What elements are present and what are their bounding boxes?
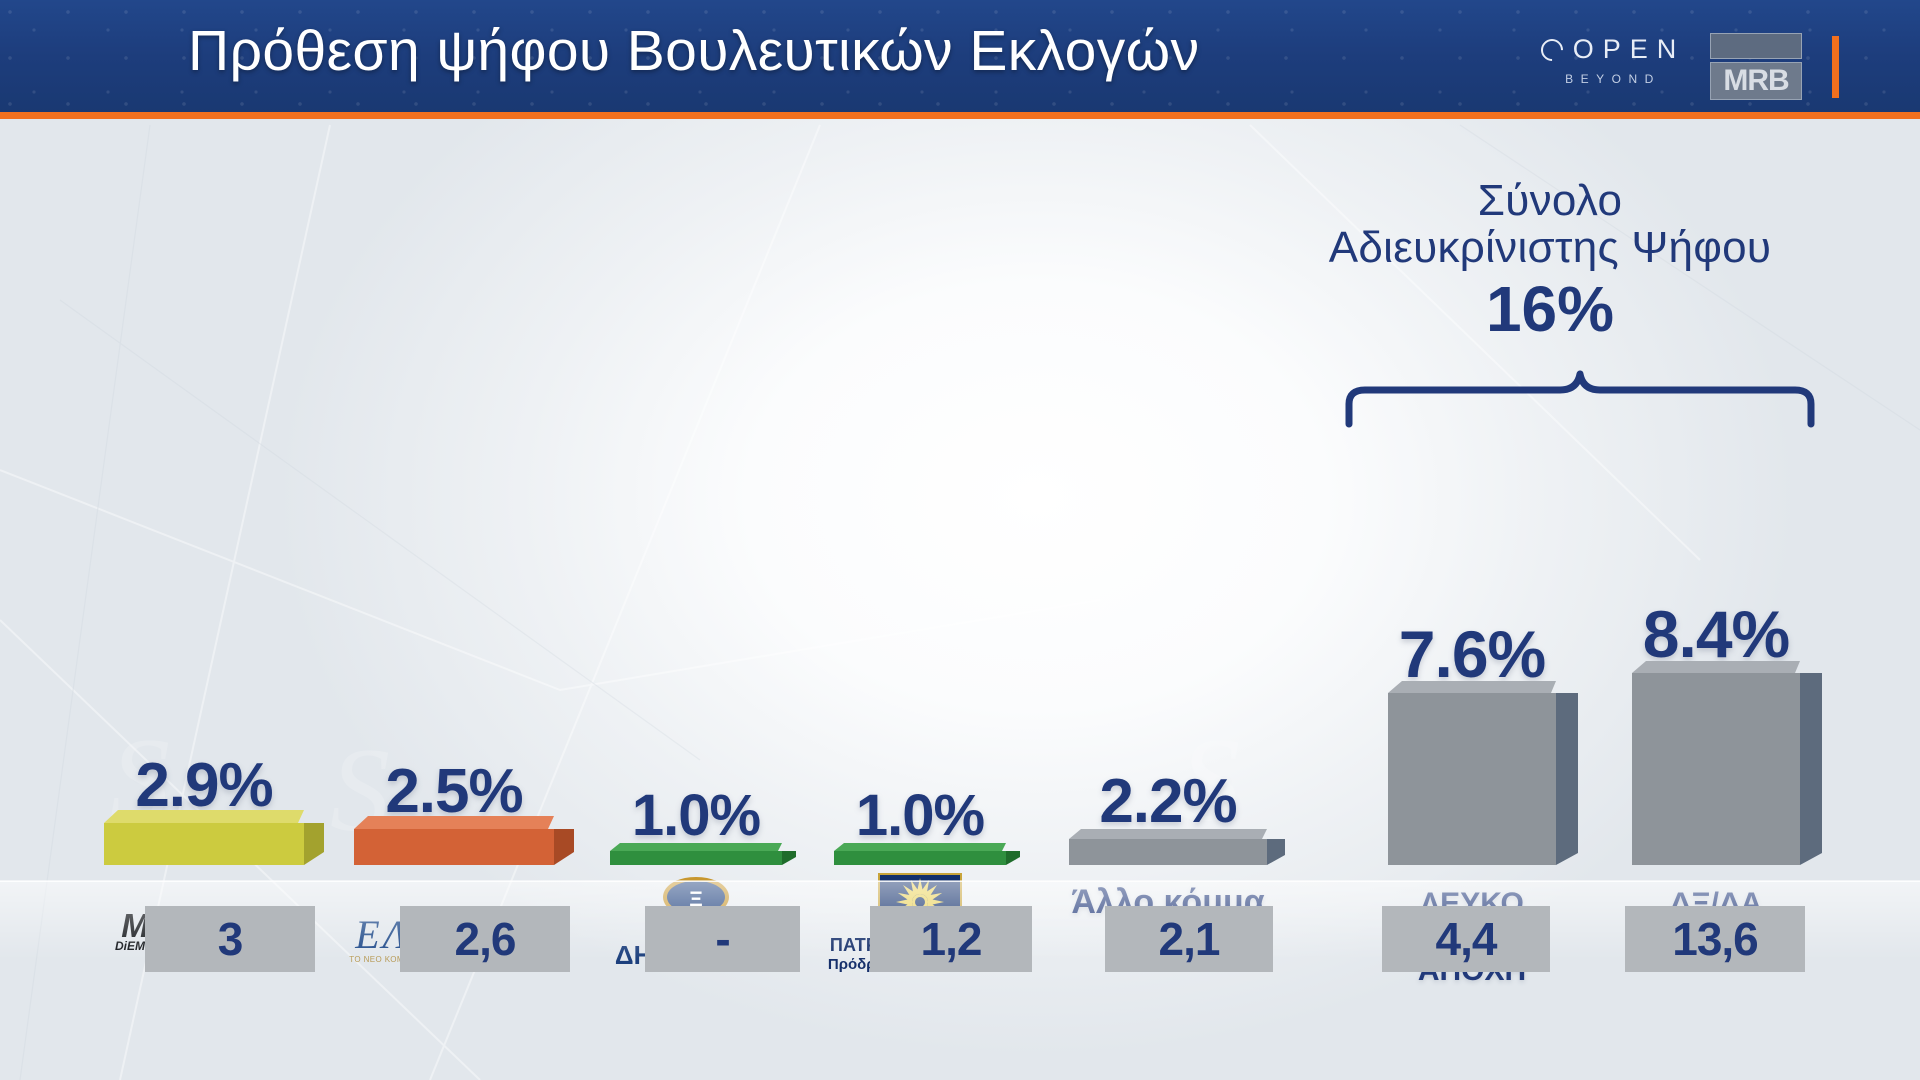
- chip-ethniki-dimiourgia: -: [645, 906, 800, 972]
- chip-patriotiki-enosi: 1,2: [870, 906, 1032, 972]
- bar-column-ethniki-dimiourgia: 1.0% Ξ ΕΘΝΙΚΗ ΔΗΜΙΟΥΡΓΙΑ: [596, 788, 796, 865]
- page-title: Πρόθεση ψήφου Βουλευτικών Εκλογών: [188, 18, 1199, 84]
- bar-value-patriotiki-enosi: 1.0%: [856, 788, 984, 845]
- chip-value-patriotiki-enosi: 1,2: [921, 916, 982, 962]
- chip-value-ethniki-dimiourgia: -: [715, 916, 729, 962]
- chip-value-lefko-akyro-apoxi: 4,4: [1436, 916, 1497, 962]
- bar-column-allo-komma: 2.2% Άλλο κόμμα: [1058, 772, 1278, 865]
- header-orange-tick: [1832, 36, 1839, 98]
- bar-value-mera25: 2.9%: [135, 756, 272, 817]
- bar-value-ethniki-dimiourgia: 1.0%: [632, 788, 760, 845]
- chip-ellines: 2,6: [400, 906, 570, 972]
- beyond-wordmark: BEYOND: [1538, 72, 1688, 86]
- bar-body-lefko-akyro-apoxi: [1388, 693, 1556, 865]
- bar-column-mera25: 2.9% MέPA 25 DiEM: [86, 756, 322, 865]
- bar-body-allo-komma: [1069, 839, 1267, 865]
- chip-value-allo-komma: 2,1: [1159, 916, 1220, 962]
- bar-body-patriotiki-enosi: [834, 851, 1006, 865]
- bar-column-lefko-akyro-apoxi: 7.6% ΛΕΥΚΟ ΑΚΥΡΟ ΑΠΟΧΗ: [1372, 622, 1572, 865]
- chip-lefko-akyro-apoxi: 4,4: [1382, 906, 1550, 972]
- bar-column-patriotiki-enosi: 1.0%: [820, 788, 1020, 865]
- bar-body-dx-da: [1632, 673, 1800, 865]
- chip-value-mera25: 3: [218, 916, 243, 962]
- bar-value-ellines: 2.5%: [385, 762, 522, 823]
- mrb-top-block: [1710, 33, 1802, 59]
- bar-body-ethniki-dimiourgia: [610, 851, 782, 865]
- open-letters: OPEN: [1573, 36, 1686, 63]
- chip-dx-da: 13,6: [1625, 906, 1805, 972]
- bar-value-lefko-akyro-apoxi: 7.6%: [1399, 622, 1545, 687]
- open-wordmark: OPEN: [1538, 36, 1688, 63]
- chip-mera25: 3: [145, 906, 315, 972]
- bar-column-ellines: 2.5% ΕΛΛΗΝΕΣ ΤΟ ΝΕΟ ΚΟΜΜΑ ΠΟΥ ΙΔΡΥΕΙ Ο Η…: [336, 762, 572, 865]
- open-beyond-logo: OPEN BEYOND: [1538, 36, 1688, 86]
- chip-allo-komma: 2,1: [1105, 906, 1273, 972]
- bar-body-mera25: [104, 823, 304, 865]
- bar-column-dx-da: 8.4% ΔΞ/ΔΑ: [1616, 602, 1816, 865]
- chart-baseline: [0, 881, 1920, 882]
- bar-value-allo-komma: 2.2%: [1099, 772, 1236, 833]
- chip-value-ellines: 2,6: [455, 916, 516, 962]
- poll-graphic: S S S Πρόθεση ψήφου Βουλευτικών Εκλογών …: [0, 0, 1920, 1080]
- open-circle-icon: [1536, 34, 1567, 65]
- mrb-bottom-block: MRB: [1710, 62, 1802, 100]
- bar-body-ellines: [354, 829, 554, 865]
- chip-value-dx-da: 13,6: [1672, 916, 1758, 962]
- mrb-wordmark: MRB: [1723, 66, 1788, 96]
- previous-values-row: 3 2,6 - 1,2 2,1 4,4 13,6: [0, 906, 1920, 972]
- bar-value-dx-da: 8.4%: [1643, 602, 1789, 667]
- mrb-logo: MRB: [1710, 33, 1802, 100]
